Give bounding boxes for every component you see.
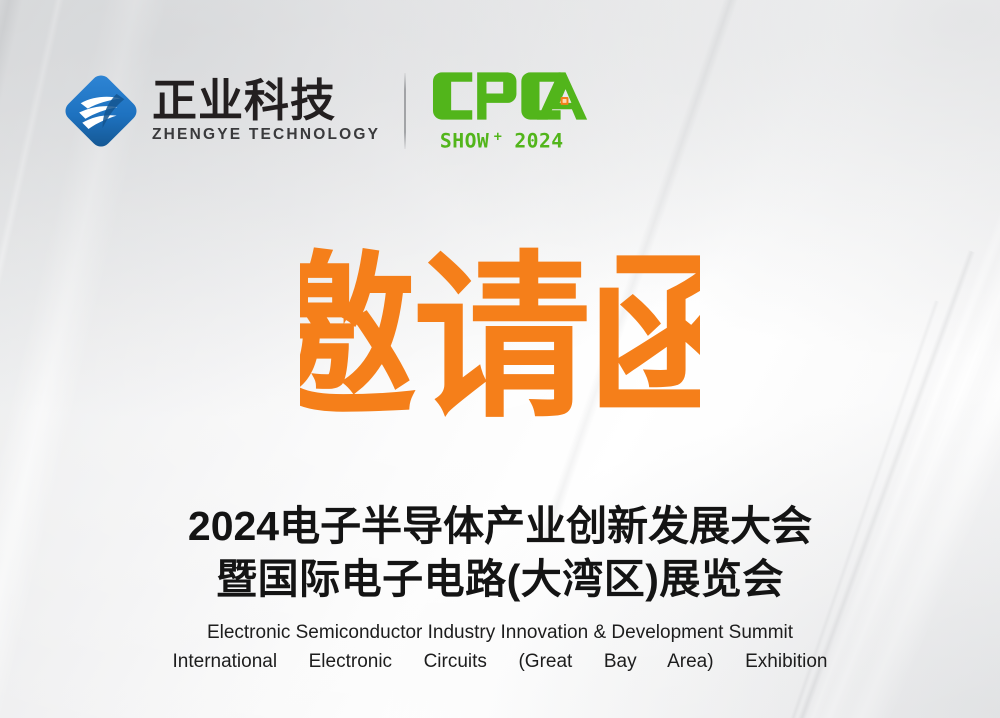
- zhengye-wordmark: 正业科技 ZHENGYE TECHNOLOGY: [152, 78, 380, 145]
- svg-text:+: +: [494, 130, 502, 145]
- headline-line-2: 暨国际电子电路(大湾区)展览会: [0, 553, 1000, 606]
- hero-invitation-title: 邀请函: [0, 236, 1000, 436]
- hero-invitation-glyphs: 邀请函: [300, 236, 700, 436]
- svg-text:SHOW: SHOW: [440, 130, 489, 153]
- headline-block: 2024电子半导体产业创新发展大会 暨国际电子电路(大湾区)展览会 Electr…: [0, 500, 1000, 676]
- cpca-show-logo: SHOW + 2024: [432, 68, 594, 154]
- invitation-poster: 正业科技 ZHENGYE TECHNOLOGY: [0, 0, 1000, 718]
- cpca-show-subtitle-icon: SHOW + 2024: [432, 128, 594, 154]
- logo-divider: [404, 73, 406, 149]
- subtitle-line-1: Electronic Semiconductor Industry Innova…: [0, 618, 1000, 647]
- company-name-cn: 正业科技: [152, 78, 380, 124]
- subtitle-line-2: International Electronic Circuits (Great…: [173, 647, 828, 676]
- subtitle-block: Electronic Semiconductor Industry Innova…: [0, 618, 1000, 677]
- hero-invitation-text: 邀请函: [300, 236, 700, 436]
- company-name-en: ZHENGYE TECHNOLOGY: [152, 126, 380, 144]
- cpca-logo-icon: [432, 68, 594, 124]
- headline-line-1: 2024电子半导体产业创新发展大会: [0, 500, 1000, 553]
- svg-text:2024: 2024: [515, 130, 564, 153]
- logo-lockup: 正业科技 ZHENGYE TECHNOLOGY: [62, 62, 594, 160]
- zhengye-diamond-swirl-logo-icon: [62, 72, 140, 150]
